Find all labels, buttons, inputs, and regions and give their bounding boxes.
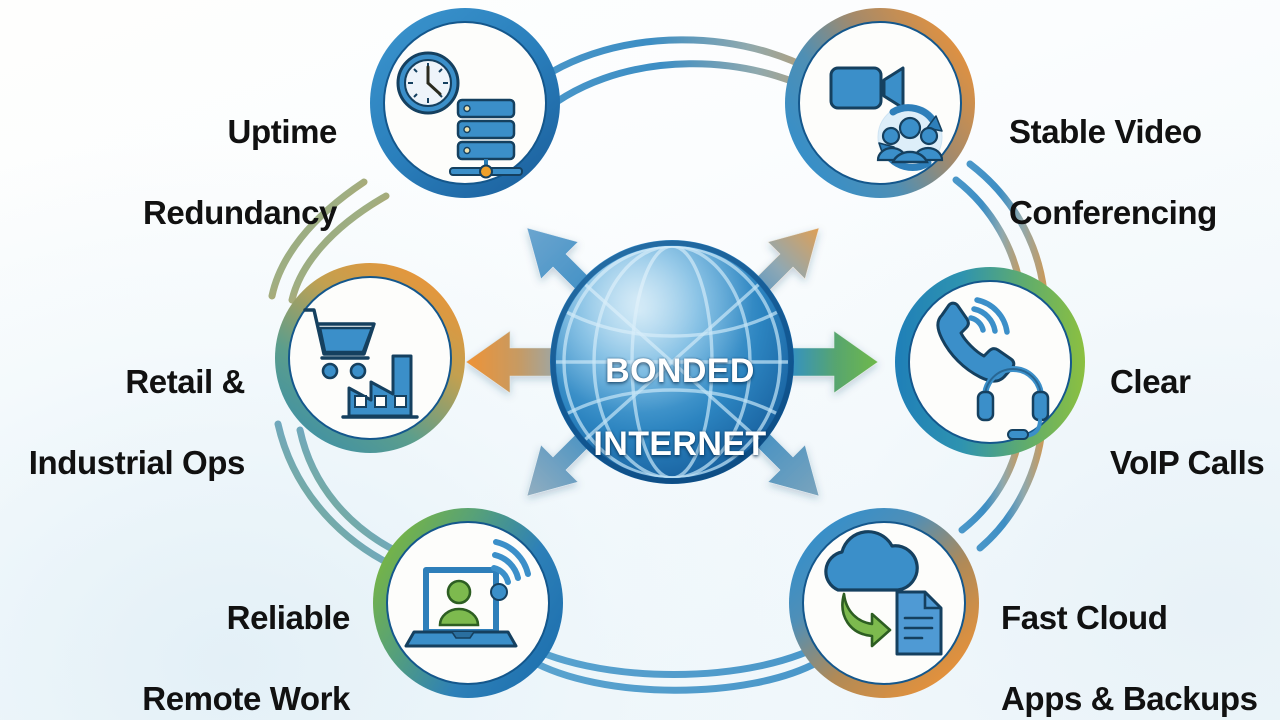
video-camera-icon <box>831 68 903 108</box>
clock-icon <box>398 53 458 113</box>
label-reliable-remote-work: Reliable Remote Work <box>60 558 350 720</box>
label-uptime-line2: Redundancy <box>57 193 337 233</box>
globe-gloss <box>556 246 788 478</box>
label-voip-line1: Clear <box>1110 362 1280 402</box>
node-stable-video-conferencing[interactable] <box>785 8 975 198</box>
document-icon <box>897 592 941 654</box>
diagram-canvas: BONDED INTERNET Uptime Redundancy Stable… <box>0 0 1280 720</box>
center-globe[interactable] <box>550 240 794 484</box>
label-voip-line2: VoIP Calls <box>1110 443 1280 483</box>
node-retail-industrial-ops[interactable] <box>275 263 465 453</box>
label-uptime-redundancy: Uptime Redundancy <box>57 72 337 273</box>
label-cloud-line1: Fast Cloud <box>1001 598 1280 638</box>
label-remote-line2: Remote Work <box>60 679 350 719</box>
node-clear-voip-calls[interactable] <box>895 267 1085 457</box>
arrow-right <box>784 331 878 393</box>
node-reliable-remote-work[interactable] <box>373 508 563 698</box>
node-uptime-redundancy[interactable] <box>370 8 560 198</box>
label-clear-voip-calls: Clear VoIP Calls <box>1110 322 1280 523</box>
label-retail-industrial-ops: Retail & Industrial Ops <box>0 322 245 523</box>
node-fast-cloud-apps-backups[interactable] <box>789 508 979 698</box>
label-video-line1: Stable Video <box>1009 112 1280 152</box>
label-remote-line1: Reliable <box>60 598 350 638</box>
label-video-line2: Conferencing <box>1009 193 1280 233</box>
label-uptime-line1: Uptime <box>57 112 337 152</box>
label-stable-video-conferencing: Stable Video Conferencing <box>1009 72 1280 273</box>
label-fast-cloud-apps-backups: Fast Cloud Apps & Backups <box>1001 558 1280 720</box>
arrow-left <box>466 331 560 393</box>
people-sync-icon <box>878 105 942 169</box>
label-retail-line1: Retail & <box>0 362 245 402</box>
label-retail-line2: Industrial Ops <box>0 443 245 483</box>
label-cloud-line2: Apps & Backups <box>1001 679 1280 719</box>
